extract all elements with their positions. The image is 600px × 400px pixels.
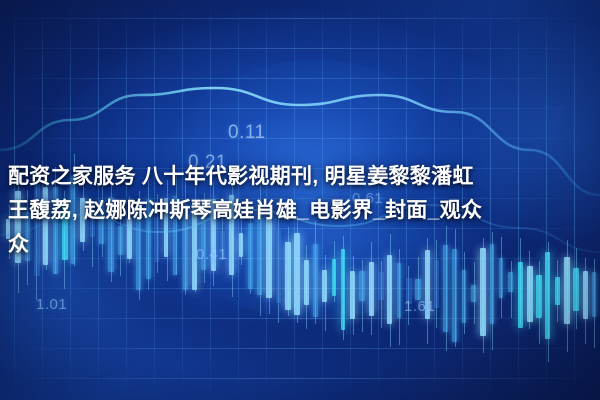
candle-bar [536, 275, 542, 318]
candle-bar [518, 262, 524, 328]
candle-bar [592, 272, 597, 317]
grid-line-horizontal [0, 138, 600, 139]
axis-number: 1.61 [404, 298, 435, 315]
grid-line-horizontal [0, 78, 600, 79]
banner-image: 0.110.210.411.011.610.61 配资之家服务 八十年代影视期刊… [0, 0, 600, 400]
candle-bar [452, 249, 456, 342]
candle-bar [573, 268, 579, 311]
grid-line-horizontal [0, 18, 600, 19]
headline-line-1: 配资之家服务 八十年代影视期刊, 明星姜黎黎潘虹 [8, 160, 592, 194]
grid-line-horizontal [0, 108, 600, 109]
axis-number: 1.01 [36, 296, 67, 313]
grid-line-horizontal [0, 348, 600, 349]
candle-bar [378, 272, 384, 300]
candle-bar [387, 255, 392, 324]
candle-bar [462, 270, 466, 323]
headline-line-3: 众 [8, 228, 592, 262]
candle-bar [369, 262, 374, 316]
candle-bar [350, 271, 355, 318]
headline-text: 配资之家服务 八十年代影视期刊, 明星姜黎黎潘虹 王馥荔, 赵娜陈冲斯琴高娃肖雄… [8, 160, 592, 262]
candle-bar [322, 270, 327, 303]
candle-bar [564, 257, 570, 324]
grid-line-horizontal [0, 48, 600, 49]
candle-bar [304, 260, 310, 305]
candle-bar [397, 263, 401, 317]
candle-bar [508, 272, 513, 292]
grid-line-horizontal [0, 318, 600, 319]
axis-number: 0.11 [228, 122, 266, 144]
candle-bar [545, 252, 550, 339]
candle-bar [527, 266, 533, 322]
headline-line-2: 王馥荔, 赵娜陈冲斯琴高娃肖雄_电影界_封面_观众 [8, 194, 592, 228]
candle-bar [555, 277, 561, 305]
grid-line-horizontal [0, 378, 600, 379]
candle-bar [471, 285, 476, 302]
candle-bar [332, 259, 336, 296]
candle-bar [583, 271, 588, 319]
candle-bar [359, 271, 365, 301]
candle-bar [415, 279, 420, 300]
candle-bar [499, 258, 503, 298]
